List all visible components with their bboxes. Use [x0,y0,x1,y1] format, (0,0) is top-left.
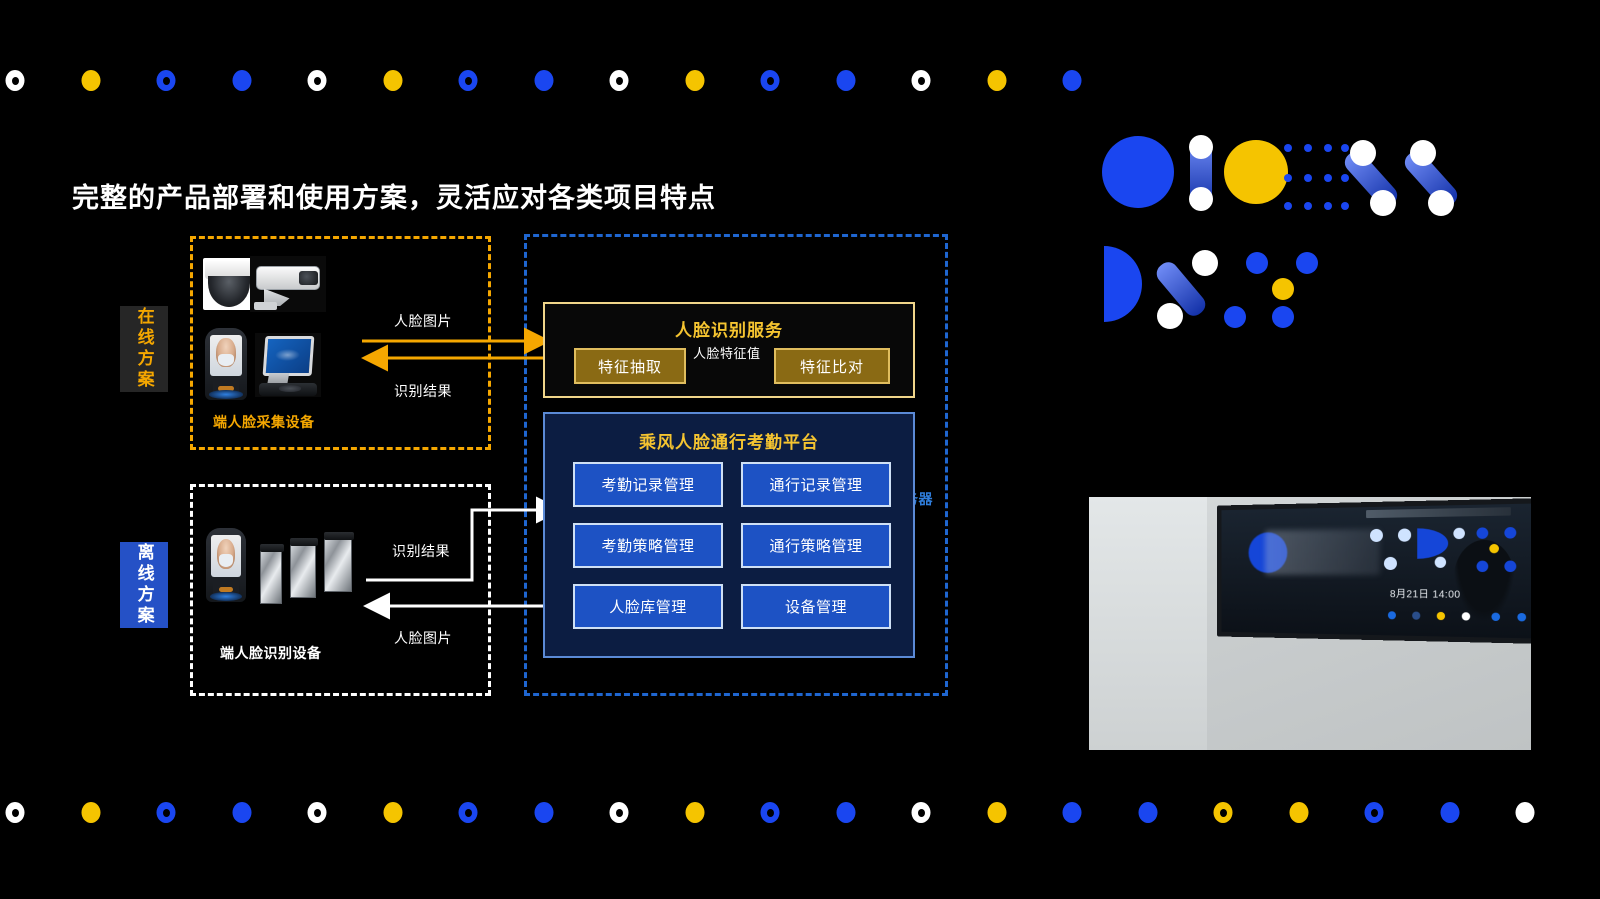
connector-label-online-down: 识别结果 [394,381,452,401]
decorative-dot [1440,802,1459,823]
photo-display-screen: 8月21日 14:00 [1217,498,1531,644]
platform-module-grid: 考勤记录管理 通行记录管理 考勤策略管理 通行策略管理 人脸库管理 设备管理 [573,462,891,629]
photo-wall [1089,497,1207,750]
platform-title: 乘风人脸通行考勤平台 [545,428,913,453]
deco-cluster-dot-center [1272,278,1294,300]
deco-yellow-circle [1224,140,1288,204]
decorative-dot [1289,802,1308,823]
decorative-dot [685,70,704,91]
decorative-dot [1365,802,1384,823]
face-terminal-icon-offline [206,528,246,602]
deco-white-cap-diag2-bottom [1428,190,1454,216]
dome-camera-icon [203,258,255,310]
bullet-camera-icon [250,256,326,312]
deco-blue-circle-large [1102,136,1174,208]
page-title: 完整的产品部署和使用方案，灵活应对各类项目特点 [72,176,716,215]
deco-cluster-dot-tr [1296,252,1318,274]
feature-extract-box[interactable]: 特征抽取 [574,348,686,384]
tablet-kiosk-icon [255,333,321,397]
decorative-dot [81,802,100,823]
deco-cluster-dot-tl [1246,252,1268,274]
decorative-dot [232,70,251,91]
photo-timestamp: 8月21日 14:00 [1390,585,1461,601]
connector-label-offline-up: 识别结果 [392,541,450,561]
module-attendance-records[interactable]: 考勤记录管理 [573,462,723,507]
decorative-dot [308,70,327,91]
online-zone-caption: 端人脸采集设备 [213,412,315,432]
deco-white-cap-diag3-bottom [1157,303,1183,329]
deco-white-cap-top [1189,135,1213,159]
attendance-platform-panel: 乘风人脸通行考勤平台 考勤记录管理 通行记录管理 考勤策略管理 通行策略管理 人… [543,412,915,658]
side-label-online: 在线方案 [120,306,168,392]
module-face-library[interactable]: 人脸库管理 [573,584,723,629]
decorative-dot [610,802,629,823]
decorative-dot [383,70,402,91]
face-terminal-icon-online [205,328,247,400]
decorative-dot [1214,802,1233,823]
connector-label-online-up: 人脸图片 [394,311,452,331]
decorative-dot [534,802,553,823]
decorative-dot [987,70,1006,91]
turnstile-gate-icon [260,532,360,606]
decorative-dot [1063,802,1082,823]
decorative-dot [308,802,327,823]
slide-canvas: 完整的产品部署和使用方案，灵活应对各类项目特点 公有云/私有化服务器 在线方案 … [0,0,1600,899]
decorative-dot [836,70,855,91]
decorative-dot [685,802,704,823]
connector-label-offline-down: 人脸图片 [394,628,452,648]
offline-zone-caption: 端人脸识别设备 [220,643,322,663]
module-passage-policy[interactable]: 通行策略管理 [741,523,891,568]
decorative-dot [761,70,780,91]
deco-half-circle [1104,246,1142,322]
deco-cluster-dot-br [1272,306,1294,328]
feature-compare-box[interactable]: 特征比对 [774,348,890,384]
deco-white-cap-diag1-bottom [1370,190,1396,216]
deco-white-cap-diag3-top [1192,250,1218,276]
deco-dot-grid [1284,140,1348,210]
feature-value-label: 人脸特征值 [693,343,761,362]
decorative-dot-row-top [0,70,1600,100]
deco-white-cap-diag2-top [1410,140,1436,166]
module-device-management[interactable]: 设备管理 [741,584,891,629]
presentation-photo-inset: 8月21日 14:00 [1089,497,1531,750]
decorative-dot [1516,802,1535,823]
decorative-dot [1138,802,1157,823]
decorative-dot [761,802,780,823]
decorative-dot [157,70,176,91]
face-service-title: 人脸识别服务 [545,316,913,341]
decorative-dot [836,802,855,823]
module-passage-records[interactable]: 通行记录管理 [741,462,891,507]
deco-white-cap-bottom [1189,187,1213,211]
deco-cluster-dot-bl [1224,306,1246,328]
decorative-dot [912,802,931,823]
module-attendance-policy[interactable]: 考勤策略管理 [573,523,723,568]
decorative-dot [6,70,25,91]
decorative-dot [383,802,402,823]
decorative-dot [534,70,553,91]
decorative-graphic [1060,118,1440,338]
side-label-offline: 离线方案 [120,542,168,628]
decorative-dot [81,70,100,91]
decorative-dot [1063,70,1082,91]
decorative-dot [987,802,1006,823]
decorative-dot [6,802,25,823]
decorative-dot [912,70,931,91]
decorative-dot [157,802,176,823]
deco-white-cap-diag1-top [1350,140,1376,166]
decorative-dot [610,70,629,91]
decorative-dot-row-bottom [0,802,1600,832]
decorative-dot [459,70,478,91]
decorative-dot [232,802,251,823]
decorative-dot [459,802,478,823]
